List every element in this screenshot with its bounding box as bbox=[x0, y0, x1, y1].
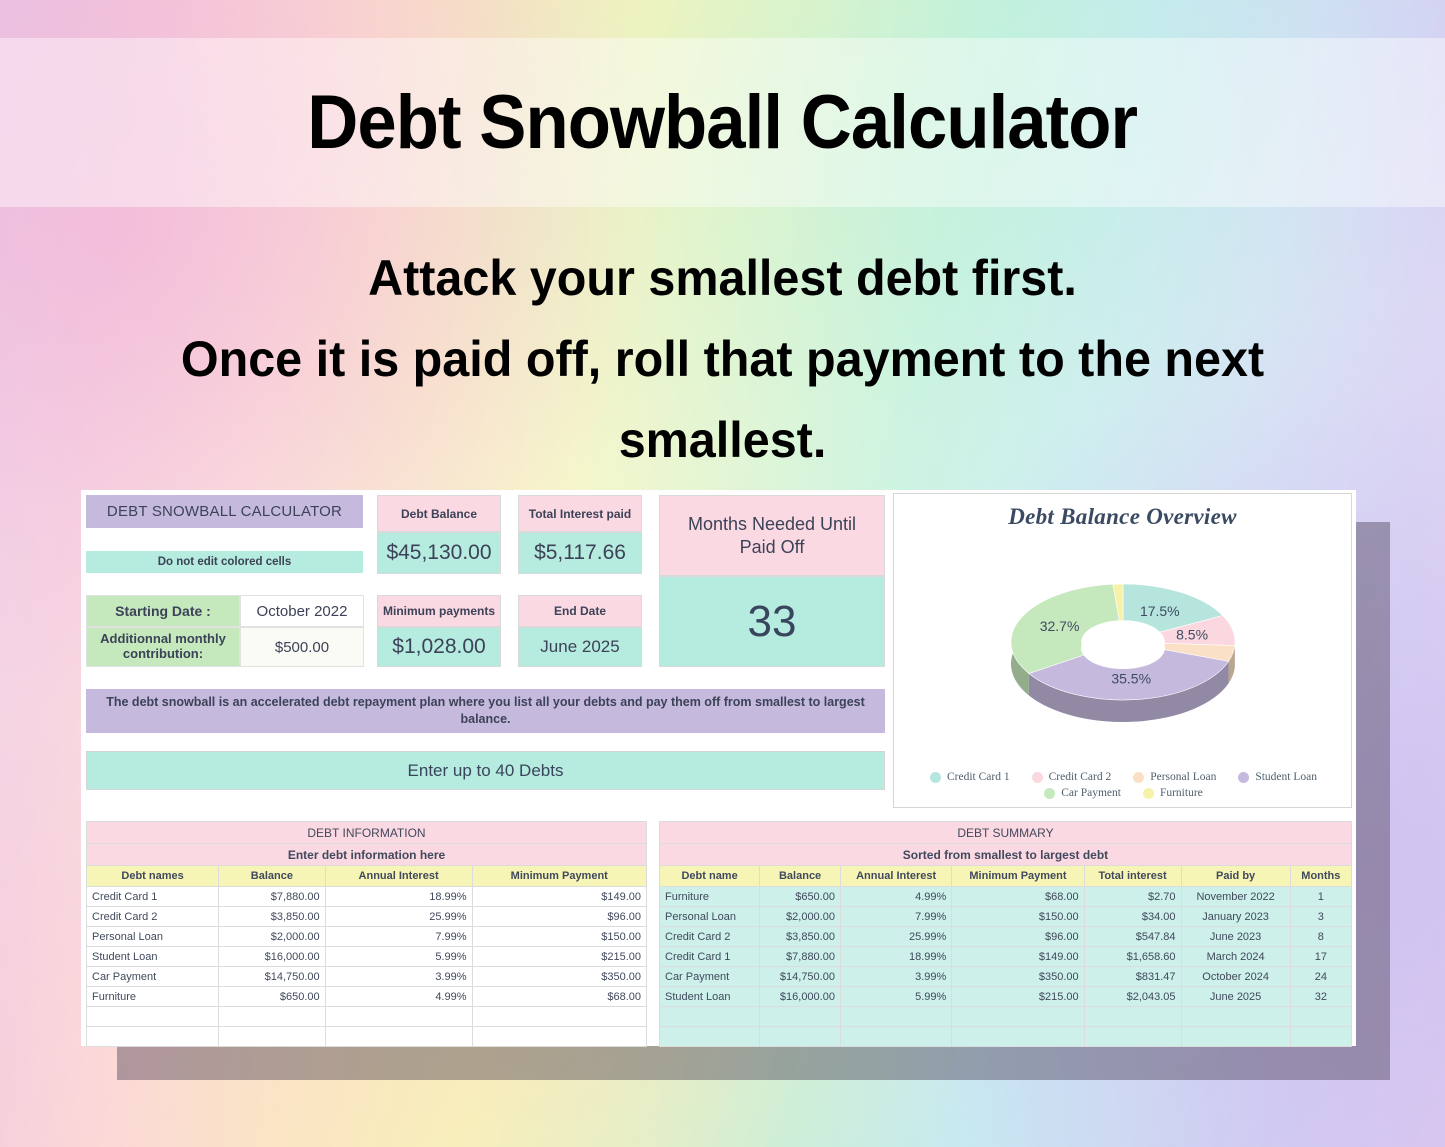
table-cell[interactable] bbox=[840, 1007, 951, 1027]
minimum-payments-value: $1,028.00 bbox=[377, 627, 501, 667]
table-cell[interactable]: $96.00 bbox=[472, 907, 646, 927]
table-row[interactable]: Furniture$650.004.99%$68.00 bbox=[87, 987, 647, 1007]
table-row[interactable]: Car Payment$14,750.003.99%$350.00 bbox=[87, 967, 647, 987]
table-cell[interactable]: $68.00 bbox=[472, 987, 646, 1007]
table-cell[interactable]: 25.99% bbox=[840, 927, 951, 947]
column-header: Balance bbox=[219, 866, 326, 887]
donut-chart-svg: 17.5%8.5%35.5%32.7% bbox=[894, 530, 1353, 745]
table-cell[interactable]: Student Loan bbox=[660, 987, 760, 1007]
table-cell[interactable]: $2.70 bbox=[1084, 887, 1181, 907]
total-interest-label: Total Interest paid bbox=[518, 495, 642, 532]
table-cell[interactable]: $150.00 bbox=[952, 907, 1084, 927]
legend-swatch-icon bbox=[1143, 788, 1154, 799]
table-cell[interactable] bbox=[840, 1027, 951, 1047]
legend-item[interactable]: Credit Card 2 bbox=[1032, 771, 1112, 783]
table-cell[interactable] bbox=[1290, 1007, 1351, 1027]
table-cell[interactable] bbox=[87, 1007, 219, 1027]
table-cell[interactable]: Car Payment bbox=[660, 967, 760, 987]
table-cell[interactable]: $150.00 bbox=[472, 927, 646, 947]
debt-summary-body: Furniture$650.004.99%$68.00$2.70November… bbox=[660, 887, 1352, 1047]
table-cell[interactable] bbox=[952, 1027, 1084, 1047]
legend-swatch-icon bbox=[1044, 788, 1055, 799]
table-cell[interactable]: 7.99% bbox=[325, 927, 472, 947]
starting-date-label: Starting Date : bbox=[86, 595, 240, 627]
table-cell[interactable]: Credit Card 2 bbox=[660, 927, 760, 947]
table-row[interactable] bbox=[660, 1007, 1352, 1027]
table-row[interactable]: Student Loan$16,000.005.99%$215.00 bbox=[87, 947, 647, 967]
table-cell[interactable] bbox=[760, 1007, 841, 1027]
column-header: Total interest bbox=[1084, 866, 1181, 887]
table-cell[interactable]: $650.00 bbox=[760, 887, 841, 907]
table-row[interactable]: Credit Card 1$7,880.0018.99%$149.00 bbox=[87, 887, 647, 907]
table-row[interactable]: Credit Card 2$3,850.0025.99%$96.00$547.8… bbox=[660, 927, 1352, 947]
table-row[interactable] bbox=[660, 1027, 1352, 1047]
column-header: Balance bbox=[760, 866, 841, 887]
legend-item[interactable]: Personal Loan bbox=[1133, 771, 1216, 783]
table-row[interactable]: Personal Loan$2,000.007.99%$150.00 bbox=[87, 927, 647, 947]
table-cell[interactable] bbox=[325, 1027, 472, 1047]
table-cell[interactable] bbox=[1181, 1007, 1290, 1027]
table-cell[interactable]: 4.99% bbox=[325, 987, 472, 1007]
table-cell[interactable] bbox=[219, 1027, 326, 1047]
table-row[interactable]: Student Loan$16,000.005.99%$215.00$2,043… bbox=[660, 987, 1352, 1007]
table-cell[interactable] bbox=[952, 1007, 1084, 1027]
table-cell[interactable]: $547.84 bbox=[1084, 927, 1181, 947]
column-header: Paid by bbox=[1181, 866, 1290, 887]
legend-label: Credit Card 1 bbox=[947, 771, 1010, 783]
debt-balance-value: $45,130.00 bbox=[377, 532, 501, 574]
snowball-description: The debt snowball is an accelerated debt… bbox=[86, 689, 885, 733]
table-cell[interactable] bbox=[1290, 1027, 1351, 1047]
debt-information-body: Credit Card 1$7,880.0018.99%$149.00Credi… bbox=[87, 887, 647, 1047]
table-cell[interactable]: 17 bbox=[1290, 947, 1351, 967]
table-cell[interactable] bbox=[660, 1007, 760, 1027]
table-cell[interactable] bbox=[472, 1027, 646, 1047]
subtitle-line-2: Once it is paid off, roll that payment t… bbox=[80, 319, 1365, 400]
debt-balance-chart-card: Debt Balance Overview 17.5%8.5%35.5%32.7… bbox=[893, 493, 1352, 808]
column-header: Debt names bbox=[87, 866, 219, 887]
legend-item[interactable]: Credit Card 1 bbox=[930, 771, 1010, 783]
minimum-payments-label: Minimum payments bbox=[377, 595, 501, 627]
page-title: Debt Snowball Calculator bbox=[308, 79, 1138, 166]
table-cell[interactable]: $350.00 bbox=[952, 967, 1084, 987]
table-cell[interactable] bbox=[660, 1027, 760, 1047]
column-header: Debt name bbox=[660, 866, 760, 887]
column-header: Annual Interest bbox=[840, 866, 951, 887]
donut-segment-label: 35.5% bbox=[1111, 670, 1151, 686]
table-cell[interactable] bbox=[1084, 1027, 1181, 1047]
additional-contribution-input[interactable]: $500.00 bbox=[240, 627, 364, 667]
debt-summary-header-row: Debt nameBalanceAnnual InterestMinimum P… bbox=[660, 866, 1352, 887]
table-cell[interactable] bbox=[219, 1007, 326, 1027]
additional-contribution-label: Additionnal monthly contribution: bbox=[86, 627, 240, 667]
table-cell[interactable]: Credit Card 1 bbox=[87, 887, 219, 907]
legend-item[interactable]: Student Loan bbox=[1238, 771, 1317, 783]
table-cell[interactable]: $16,000.00 bbox=[760, 987, 841, 1007]
table-cell[interactable]: $215.00 bbox=[952, 987, 1084, 1007]
table-row[interactable]: Personal Loan$2,000.007.99%$150.00$34.00… bbox=[660, 907, 1352, 927]
table-row[interactable] bbox=[87, 1007, 647, 1027]
table-cell[interactable] bbox=[1181, 1027, 1290, 1047]
donut-segment-label: 17.5% bbox=[1140, 603, 1180, 619]
debt-summary-table: DEBT SUMMARY Sorted from smallest to lar… bbox=[659, 821, 1352, 1047]
spreadsheet-panel: DEBT SNOWBALL CALCULATOR Do not edit col… bbox=[81, 490, 1356, 1046]
table-cell[interactable] bbox=[325, 1007, 472, 1027]
table-cell[interactable] bbox=[1084, 1007, 1181, 1027]
table-cell[interactable]: $34.00 bbox=[1084, 907, 1181, 927]
table-cell[interactable]: June 2023 bbox=[1181, 927, 1290, 947]
table-cell[interactable]: Credit Card 1 bbox=[660, 947, 760, 967]
table-cell[interactable]: $68.00 bbox=[952, 887, 1084, 907]
table-cell[interactable]: $149.00 bbox=[472, 887, 646, 907]
table-cell[interactable]: $2,000.00 bbox=[760, 907, 841, 927]
title-banner: Debt Snowball Calculator bbox=[0, 38, 1445, 207]
table-cell[interactable] bbox=[472, 1007, 646, 1027]
table-cell[interactable]: March 2024 bbox=[1181, 947, 1290, 967]
end-date-value: June 2025 bbox=[518, 627, 642, 667]
table-cell[interactable]: November 2022 bbox=[1181, 887, 1290, 907]
table-cell[interactable]: $650.00 bbox=[219, 987, 326, 1007]
table-cell[interactable]: $3,850.00 bbox=[760, 927, 841, 947]
table-cell[interactable]: 7.99% bbox=[840, 907, 951, 927]
table-cell[interactable]: $2,043.05 bbox=[1084, 987, 1181, 1007]
table-cell[interactable] bbox=[760, 1027, 841, 1047]
table-cell[interactable]: October 2024 bbox=[1181, 967, 1290, 987]
table-cell[interactable]: Credit Card 2 bbox=[87, 907, 219, 927]
column-header: Annual Interest bbox=[325, 866, 472, 887]
table-cell[interactable]: $14,750.00 bbox=[760, 967, 841, 987]
table-cell[interactable]: $350.00 bbox=[472, 967, 646, 987]
table-cell[interactable]: $215.00 bbox=[472, 947, 646, 967]
column-header: Minimum Payment bbox=[952, 866, 1084, 887]
table-cell[interactable]: Personal Loan bbox=[87, 927, 219, 947]
donut-hole bbox=[1081, 627, 1165, 669]
table-cell[interactable]: 5.99% bbox=[840, 987, 951, 1007]
table-cell[interactable]: 4.99% bbox=[840, 887, 951, 907]
legend-swatch-icon bbox=[930, 772, 941, 783]
table-cell[interactable]: 5.99% bbox=[325, 947, 472, 967]
enter-debts-banner: Enter up to 40 Debts bbox=[86, 751, 885, 790]
table-row[interactable]: Car Payment$14,750.003.99%$350.00$831.47… bbox=[660, 967, 1352, 987]
donut-segment-label: 32.7% bbox=[1040, 618, 1080, 634]
table-cell[interactable]: $7,880.00 bbox=[219, 887, 326, 907]
table-cell[interactable]: 3 bbox=[1290, 907, 1351, 927]
table-cell[interactable]: 18.99% bbox=[840, 947, 951, 967]
table-cell[interactable]: Student Loan bbox=[87, 947, 219, 967]
table-cell[interactable]: 3.99% bbox=[325, 967, 472, 987]
table-cell[interactable]: $14,750.00 bbox=[219, 967, 326, 987]
table-cell[interactable] bbox=[87, 1027, 219, 1047]
table-row[interactable] bbox=[87, 1027, 647, 1047]
legend-item[interactable]: Car Payment bbox=[1044, 787, 1121, 799]
column-header: Minimum Payment bbox=[472, 866, 646, 887]
table-cell[interactable]: Furniture bbox=[660, 887, 760, 907]
table-row[interactable]: Credit Card 2$3,850.0025.99%$96.00 bbox=[87, 907, 647, 927]
table-cell[interactable]: $1,658.60 bbox=[1084, 947, 1181, 967]
table-cell[interactable]: June 2025 bbox=[1181, 987, 1290, 1007]
legend-label: Furniture bbox=[1160, 787, 1203, 799]
table-cell[interactable]: 32 bbox=[1290, 987, 1351, 1007]
table-cell[interactable]: Furniture bbox=[87, 987, 219, 1007]
table-cell[interactable]: $96.00 bbox=[952, 927, 1084, 947]
subtitle-block: Attack your smallest debt first. Once it… bbox=[80, 238, 1365, 481]
end-date-label: End Date bbox=[518, 595, 642, 627]
chart-legend: Credit Card 1Credit Card 2Personal LoanS… bbox=[894, 771, 1353, 799]
table-cell[interactable]: $3,850.00 bbox=[219, 907, 326, 927]
table-cell[interactable]: Car Payment bbox=[87, 967, 219, 987]
debt-information-header-row: Debt namesBalanceAnnual InterestMinimum … bbox=[87, 866, 647, 887]
subtitle-line-3: smallest. bbox=[80, 400, 1365, 481]
table-cell[interactable]: $149.00 bbox=[952, 947, 1084, 967]
legend-swatch-icon bbox=[1238, 772, 1249, 783]
table-cell[interactable]: $7,880.00 bbox=[760, 947, 841, 967]
table-cell[interactable]: 18.99% bbox=[325, 887, 472, 907]
debt-summary-title: DEBT SUMMARY bbox=[660, 822, 1352, 844]
legend-item[interactable]: Furniture bbox=[1143, 787, 1203, 799]
donut-chart: 17.5%8.5%35.5%32.7% bbox=[894, 530, 1353, 745]
subtitle-line-1: Attack your smallest debt first. bbox=[80, 238, 1365, 319]
table-cell[interactable]: 3.99% bbox=[840, 967, 951, 987]
table-cell[interactable]: 24 bbox=[1290, 967, 1351, 987]
table-cell[interactable]: $2,000.00 bbox=[219, 927, 326, 947]
legend-label: Personal Loan bbox=[1150, 771, 1216, 783]
table-row[interactable]: Furniture$650.004.99%$68.00$2.70November… bbox=[660, 887, 1352, 907]
legend-label: Car Payment bbox=[1061, 787, 1121, 799]
calculator-title-cell: DEBT SNOWBALL CALCULATOR bbox=[86, 495, 363, 528]
table-cell[interactable]: January 2023 bbox=[1181, 907, 1290, 927]
total-interest-value: $5,117.66 bbox=[518, 532, 642, 574]
table-cell[interactable]: 1 bbox=[1290, 887, 1351, 907]
debt-information-subtitle: Enter debt information here bbox=[87, 844, 647, 866]
donut-segment-label: 8.5% bbox=[1176, 627, 1208, 643]
legend-swatch-icon bbox=[1133, 772, 1144, 783]
debt-information-table: DEBT INFORMATION Enter debt information … bbox=[86, 821, 647, 1047]
months-needed-value: 33 bbox=[659, 576, 885, 667]
table-row[interactable]: Credit Card 1$7,880.0018.99%$149.00$1,65… bbox=[660, 947, 1352, 967]
chart-title: Debt Balance Overview bbox=[894, 504, 1351, 530]
table-cell[interactable]: Personal Loan bbox=[660, 907, 760, 927]
table-cell[interactable]: $16,000.00 bbox=[219, 947, 326, 967]
legend-swatch-icon bbox=[1032, 772, 1043, 783]
debt-balance-label: Debt Balance bbox=[377, 495, 501, 532]
column-header: Months bbox=[1290, 866, 1351, 887]
starting-date-input[interactable]: October 2022 bbox=[240, 595, 364, 627]
debt-summary-subtitle: Sorted from smallest to largest debt bbox=[660, 844, 1352, 866]
table-cell[interactable]: $831.47 bbox=[1084, 967, 1181, 987]
months-needed-label: Months Needed Until Paid Off bbox=[659, 495, 885, 576]
legend-label: Credit Card 2 bbox=[1049, 771, 1112, 783]
table-cell[interactable]: 25.99% bbox=[325, 907, 472, 927]
debt-information-title: DEBT INFORMATION bbox=[87, 822, 647, 844]
do-not-edit-note: Do not edit colored cells bbox=[86, 551, 363, 573]
table-cell[interactable]: 8 bbox=[1290, 927, 1351, 947]
legend-label: Student Loan bbox=[1255, 771, 1317, 783]
